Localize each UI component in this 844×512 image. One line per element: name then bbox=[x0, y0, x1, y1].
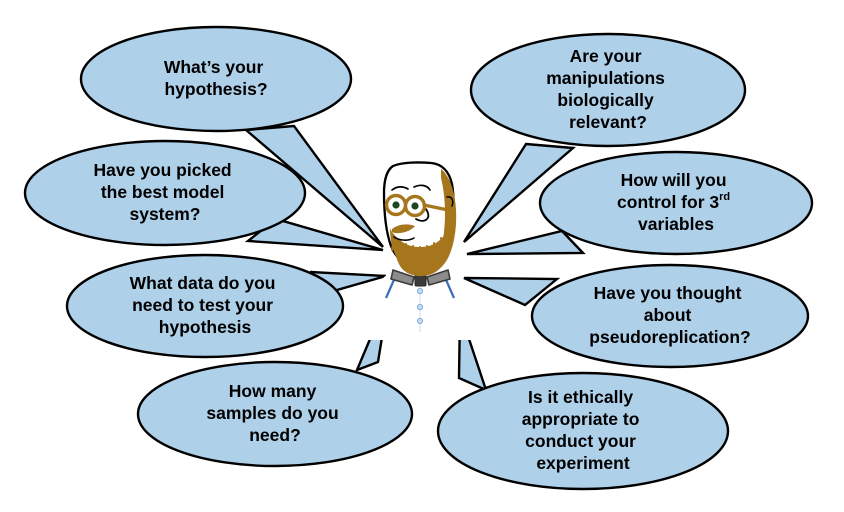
bubble-are-your-manipulations-biologically-relevant[interactable]: Are your manipulations biologically rele… bbox=[471, 34, 745, 146]
ordinal-suffix-rd: rd bbox=[719, 191, 730, 203]
pupil-right bbox=[411, 202, 418, 209]
bubble-label-3rd-line: control for 3rd bbox=[617, 191, 735, 212]
bubble-how-will-you-control-for-3rd-variables[interactable]: How will you control for 3rd variables bbox=[540, 152, 812, 254]
bubble-how-many-samples-do-you-need[interactable]: How many samples do you need? bbox=[138, 362, 412, 466]
bubble-have-you-thought-about-pseudoreplication[interactable]: Have you thought about pseudoreplication… bbox=[532, 265, 808, 367]
control-for-3-text: control for 3 bbox=[617, 192, 719, 212]
pupil-left bbox=[392, 201, 399, 208]
bubble-what-data-do-you-need-to-test-your-hypothesis[interactable]: What data do you need to test your hypot… bbox=[67, 255, 343, 357]
shirt-button-3 bbox=[417, 318, 422, 323]
speech-bubble-diagram: What’s your hypothesis? Have you picked … bbox=[0, 0, 844, 512]
shirt-button-2 bbox=[417, 304, 422, 309]
diagram-canvas: What’s your hypothesis? Have you picked … bbox=[0, 0, 844, 512]
shirt-button-1 bbox=[417, 288, 422, 293]
bubble-have-you-picked-the-best-model-system[interactable]: Have you picked the best model system? bbox=[25, 141, 305, 245]
bubble-whats-your-hypothesis[interactable]: What’s your hypothesis? bbox=[81, 27, 351, 131]
bubble-is-it-ethically-appropriate-to-conduct-your-experiment[interactable]: Is it ethically appropriate to conduct y… bbox=[438, 373, 728, 489]
